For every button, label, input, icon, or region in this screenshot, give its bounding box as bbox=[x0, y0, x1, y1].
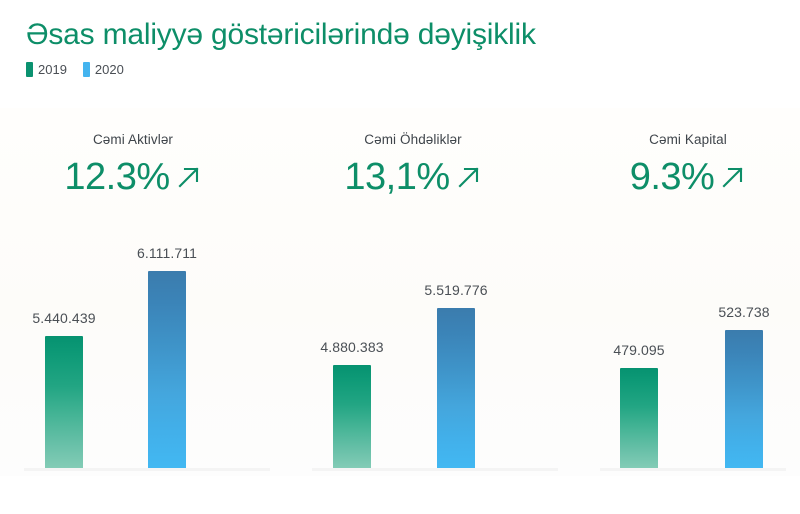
chart-legend: 2019 2020 bbox=[26, 62, 776, 77]
arrow-up-right-icon bbox=[456, 164, 482, 190]
kpi-cemi-ohdelikler: Cəmi Öhdəliklər 13,1% bbox=[288, 132, 538, 197]
legend-label-2020: 2020 bbox=[95, 62, 124, 77]
chart-header: Əsas maliyyə göstəricilərində dəyişiklik… bbox=[26, 16, 776, 77]
kpi-value: 9.3% bbox=[630, 157, 715, 197]
kpi-label: Cəmi Aktivlər bbox=[8, 132, 258, 147]
kpi-value: 13,1% bbox=[344, 157, 449, 197]
bar-value-label: 479.095 bbox=[613, 342, 664, 358]
group-baseline bbox=[312, 468, 558, 471]
bar-value-label: 5.440.439 bbox=[32, 310, 95, 326]
kpi-label: Cəmi Öhdəliklər bbox=[288, 132, 538, 147]
legend-swatch-icon-2020 bbox=[83, 62, 90, 77]
kpi-label: Cəmi Kapital bbox=[578, 132, 798, 147]
bar-2020-cemi-kapital[interactable] bbox=[725, 330, 763, 468]
group-baseline bbox=[24, 468, 270, 471]
bar-2019-cemi-aktivler[interactable] bbox=[45, 336, 83, 468]
kpi-cemi-aktivler: Cəmi Aktivlər 12.3% bbox=[8, 132, 258, 197]
bar-value-label: 5.519.776 bbox=[424, 282, 487, 298]
bar-2020-cemi-aktivler[interactable] bbox=[148, 271, 186, 468]
bar-chart-plot: 5.440.439 6.111.711 4.880.383 5.519.776 … bbox=[0, 0, 800, 514]
legend-swatch-icon-2019 bbox=[26, 62, 33, 77]
bar-value-label: 6.111.711 bbox=[137, 245, 197, 261]
bar-2019-cemi-kapital[interactable] bbox=[620, 368, 658, 468]
bar-2020-cemi-ohdelikler[interactable] bbox=[437, 308, 475, 468]
arrow-up-right-icon bbox=[720, 164, 746, 190]
group-baseline bbox=[600, 468, 786, 471]
bar-2019-cemi-ohdelikler[interactable] bbox=[333, 365, 371, 468]
bar-value-label: 4.880.383 bbox=[320, 339, 383, 355]
legend-label-2019: 2019 bbox=[38, 62, 67, 77]
legend-item-2020[interactable]: 2020 bbox=[83, 62, 124, 77]
kpi-cemi-kapital: Cəmi Kapital 9.3% bbox=[578, 132, 798, 197]
legend-item-2019[interactable]: 2019 bbox=[26, 62, 67, 77]
kpi-value: 12.3% bbox=[64, 157, 169, 197]
chart-title: Əsas maliyyə göstəricilərində dəyişiklik bbox=[26, 16, 776, 54]
bar-value-label: 523.738 bbox=[718, 304, 769, 320]
arrow-up-right-icon bbox=[176, 164, 202, 190]
